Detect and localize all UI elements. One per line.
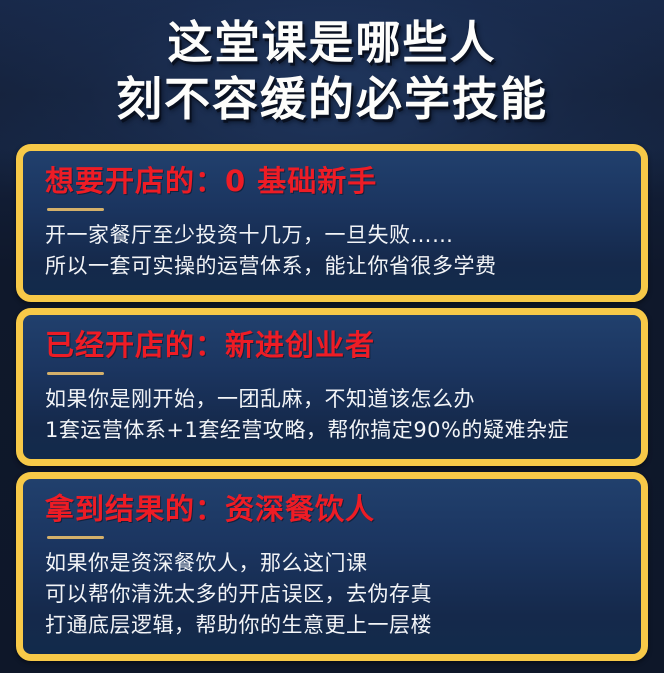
audience-card-body: 如果你是资深餐饮人，那么这门课 可以帮你清洗太多的开店误区，去伪存真 打通底层逻…: [45, 548, 619, 641]
audience-card-body: 如果你是刚开始，一团乱麻，不知道该怎么办 1套运营体系+1套经营攻略，帮你搞定9…: [45, 384, 619, 446]
audience-card-title: 想要开店的：0 基础新手: [45, 161, 619, 201]
audience-card-list: 想要开店的：0 基础新手 开一家餐厅至少投资十几万，一旦失败…… 所以一套可实操…: [0, 144, 664, 661]
headline-line-2: 刻不容缓的必学技能: [0, 71, 664, 128]
headline-line-1: 这堂课是哪些人: [0, 14, 664, 71]
title-divider: [47, 208, 104, 211]
promo-poster: 这堂课是哪些人 刻不容缓的必学技能 想要开店的：0 基础新手 开一家餐厅至少投资…: [0, 0, 664, 673]
title-divider: [47, 536, 104, 539]
audience-card-title: 拿到结果的：资深餐饮人: [45, 489, 619, 529]
audience-card: 想要开店的：0 基础新手 开一家餐厅至少投资十几万，一旦失败…… 所以一套可实操…: [16, 144, 648, 302]
body-line: 1套运营体系+1套经营攻略，帮你搞定90%的疑难杂症: [45, 415, 619, 446]
body-line: 可以帮你清洗太多的开店误区，去伪存真: [45, 579, 619, 610]
body-line: 如果你是刚开始，一团乱麻，不知道该怎么办: [45, 384, 619, 415]
body-line: 如果你是资深餐饮人，那么这门课: [45, 548, 619, 579]
audience-card: 已经开店的：新进创业者 如果你是刚开始，一团乱麻，不知道该怎么办 1套运营体系+…: [16, 308, 648, 466]
headline: 这堂课是哪些人 刻不容缓的必学技能: [0, 0, 664, 128]
title-divider: [47, 372, 104, 375]
body-line: 打通底层逻辑，帮助你的生意更上一层楼: [45, 610, 619, 641]
audience-card-title: 已经开店的：新进创业者: [45, 325, 619, 365]
audience-card-body: 开一家餐厅至少投资十几万，一旦失败…… 所以一套可实操的运营体系，能让你省很多学…: [45, 220, 619, 282]
body-line: 所以一套可实操的运营体系，能让你省很多学费: [45, 251, 619, 282]
body-line: 开一家餐厅至少投资十几万，一旦失败……: [45, 220, 619, 251]
audience-card: 拿到结果的：资深餐饮人 如果你是资深餐饮人，那么这门课 可以帮你清洗太多的开店误…: [16, 472, 648, 661]
